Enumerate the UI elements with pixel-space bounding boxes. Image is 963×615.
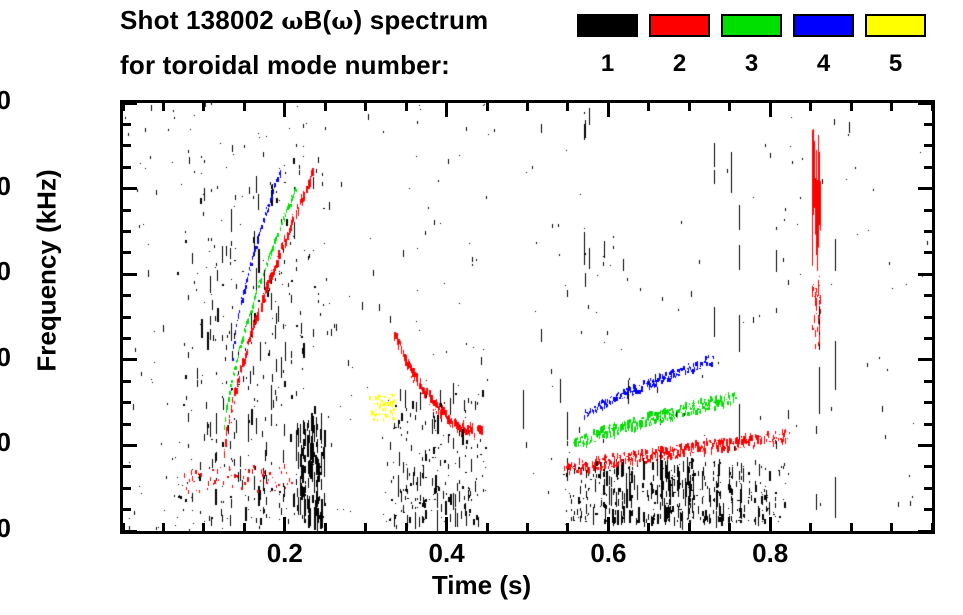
x-tick-0.00 [122, 523, 125, 531]
y-tick-right-5 [924, 508, 932, 511]
y-tick-right-70 [924, 230, 932, 233]
x-tick-0.80 [769, 517, 772, 531]
y-tick-label-100: 100 [0, 85, 11, 116]
x-tick-top-0.35 [405, 103, 408, 111]
x-tick-0.55 [566, 523, 569, 531]
y-tick-right-40 [918, 358, 932, 361]
x-tick-0.20 [283, 517, 286, 531]
legend-swatch-2 [649, 14, 710, 37]
spectrogram-canvas-wrap [123, 103, 932, 531]
x-tick-top-0.50 [526, 103, 529, 111]
x-tick-label-0.8: 0.8 [710, 538, 830, 569]
x-tick-0.15 [243, 523, 246, 531]
y-tick-right-90 [924, 144, 932, 147]
y-tick-right-50 [924, 316, 932, 319]
legend-item-1: 1 [577, 14, 638, 37]
x-tick-top-0.30 [364, 103, 367, 111]
y-tick-label-20: 20 [0, 427, 11, 458]
y-tick-right-60 [918, 273, 932, 276]
y-tick-right-95 [924, 123, 932, 126]
y-tick-label-80: 80 [0, 171, 11, 202]
y-tick-10 [123, 487, 131, 490]
y-tick-right-85 [924, 166, 932, 169]
x-tick-0.95 [890, 523, 893, 531]
y-tick-75 [123, 209, 131, 212]
title-spectrum-text: ) spectrum [353, 5, 488, 35]
spectrogram-canvas [123, 103, 932, 531]
legend-label-5: 5 [865, 50, 926, 78]
x-tick-top-0.55 [566, 103, 569, 111]
legend-swatch-4 [793, 14, 854, 37]
y-tick-90 [123, 144, 131, 147]
y-tick-label-40: 40 [0, 342, 11, 373]
x-tick-top-0.00 [122, 103, 125, 111]
legend-label-3: 3 [721, 50, 782, 78]
legend-swatch-5 [865, 14, 926, 37]
x-tick-top-0.45 [486, 103, 489, 111]
y-tick-right-75 [924, 209, 932, 212]
x-tick-label-0.4: 0.4 [387, 538, 507, 569]
y-tick-30 [123, 401, 131, 404]
y-tick-right-10 [924, 487, 932, 490]
x-tick-0.25 [324, 523, 327, 531]
x-tick-top-0.70 [688, 103, 691, 111]
y-tick-0 [123, 530, 137, 533]
x-tick-0.35 [405, 523, 408, 531]
y-tick-right-65 [924, 251, 932, 254]
x-tick-top-0.15 [243, 103, 246, 111]
title-line-primary: Shot 138002 ωB(ω) spectrum [120, 5, 488, 36]
x-tick-top-0.75 [728, 103, 731, 111]
x-tick-0.60 [607, 517, 610, 531]
x-tick-0.65 [647, 523, 650, 531]
plot-area: 0204060801000.20.40.60.8 [120, 100, 935, 534]
x-tick-top-0.05 [162, 103, 165, 111]
y-tick-right-20 [918, 444, 932, 447]
y-tick-20 [123, 444, 137, 447]
x-tick-top-0.10 [202, 103, 205, 111]
x-tick-top-0.25 [324, 103, 327, 111]
x-tick-top-0.95 [890, 103, 893, 111]
x-tick-0.75 [728, 523, 731, 531]
y-tick-95 [123, 123, 131, 126]
x-tick-0.30 [364, 523, 367, 531]
y-tick-55 [123, 294, 131, 297]
x-tick-0.50 [526, 523, 529, 531]
axis-frame-right [932, 100, 935, 534]
x-tick-0.45 [486, 523, 489, 531]
title-shot-text: Shot 138002 [120, 5, 281, 35]
legend-item-2: 2 [649, 14, 710, 37]
legend-item-5: 5 [865, 14, 926, 37]
y-tick-right-35 [924, 380, 932, 383]
axis-frame-bottom [120, 531, 935, 534]
x-tick-0.10 [202, 523, 205, 531]
omega-symbol-a: ω [281, 8, 303, 35]
title-b-open: B( [303, 5, 331, 35]
y-tick-label-60: 60 [0, 256, 11, 287]
y-tick-label-0: 0 [0, 513, 11, 544]
x-tick-0.05 [162, 523, 165, 531]
x-tick-top-0.85 [809, 103, 812, 111]
x-tick-0.90 [850, 523, 853, 531]
y-tick-5 [123, 508, 131, 511]
x-tick-0.40 [445, 517, 448, 531]
x-axis-label: Time (s) [0, 570, 963, 601]
y-tick-65 [123, 251, 131, 254]
y-tick-right-30 [924, 401, 932, 404]
y-tick-70 [123, 230, 131, 233]
x-tick-top-1.00 [931, 103, 934, 111]
y-tick-100 [123, 102, 137, 105]
x-tick-0.70 [688, 523, 691, 531]
x-tick-top-0.40 [445, 103, 448, 117]
y-tick-right-80 [918, 187, 932, 190]
legend: 12345 [577, 14, 937, 92]
x-tick-top-0.60 [607, 103, 610, 117]
spectrogram-figure: { "figure": { "title_line_1_pre": "Shot … [0, 0, 963, 615]
y-tick-45 [123, 337, 131, 340]
y-tick-25 [123, 423, 131, 426]
y-tick-40 [123, 358, 137, 361]
y-tick-85 [123, 166, 131, 169]
y-tick-50 [123, 316, 131, 319]
legend-label-4: 4 [793, 50, 854, 78]
x-tick-top-0.80 [769, 103, 772, 117]
legend-swatch-3 [721, 14, 782, 37]
x-tick-top-0.90 [850, 103, 853, 111]
y-axis-label: Frequency (kHz) [32, 146, 63, 396]
omega-symbol-b: ω [331, 8, 353, 35]
y-tick-right-55 [924, 294, 932, 297]
x-tick-1.00 [931, 523, 934, 531]
legend-label-2: 2 [649, 50, 710, 78]
x-tick-top-0.65 [647, 103, 650, 111]
x-tick-top-0.20 [283, 103, 286, 117]
legend-label-1: 1 [577, 50, 638, 78]
x-tick-0.85 [809, 523, 812, 531]
legend-item-3: 3 [721, 14, 782, 37]
y-tick-right-25 [924, 423, 932, 426]
y-tick-60 [123, 273, 137, 276]
y-tick-35 [123, 380, 131, 383]
y-tick-80 [123, 187, 137, 190]
title-line-secondary: for toroidal mode number: [120, 50, 450, 81]
legend-swatch-1 [577, 14, 638, 37]
y-tick-15 [123, 465, 131, 468]
x-tick-label-0.6: 0.6 [548, 538, 668, 569]
y-tick-right-15 [924, 465, 932, 468]
y-tick-right-45 [924, 337, 932, 340]
x-tick-label-0.2: 0.2 [225, 538, 345, 569]
legend-item-4: 4 [793, 14, 854, 37]
